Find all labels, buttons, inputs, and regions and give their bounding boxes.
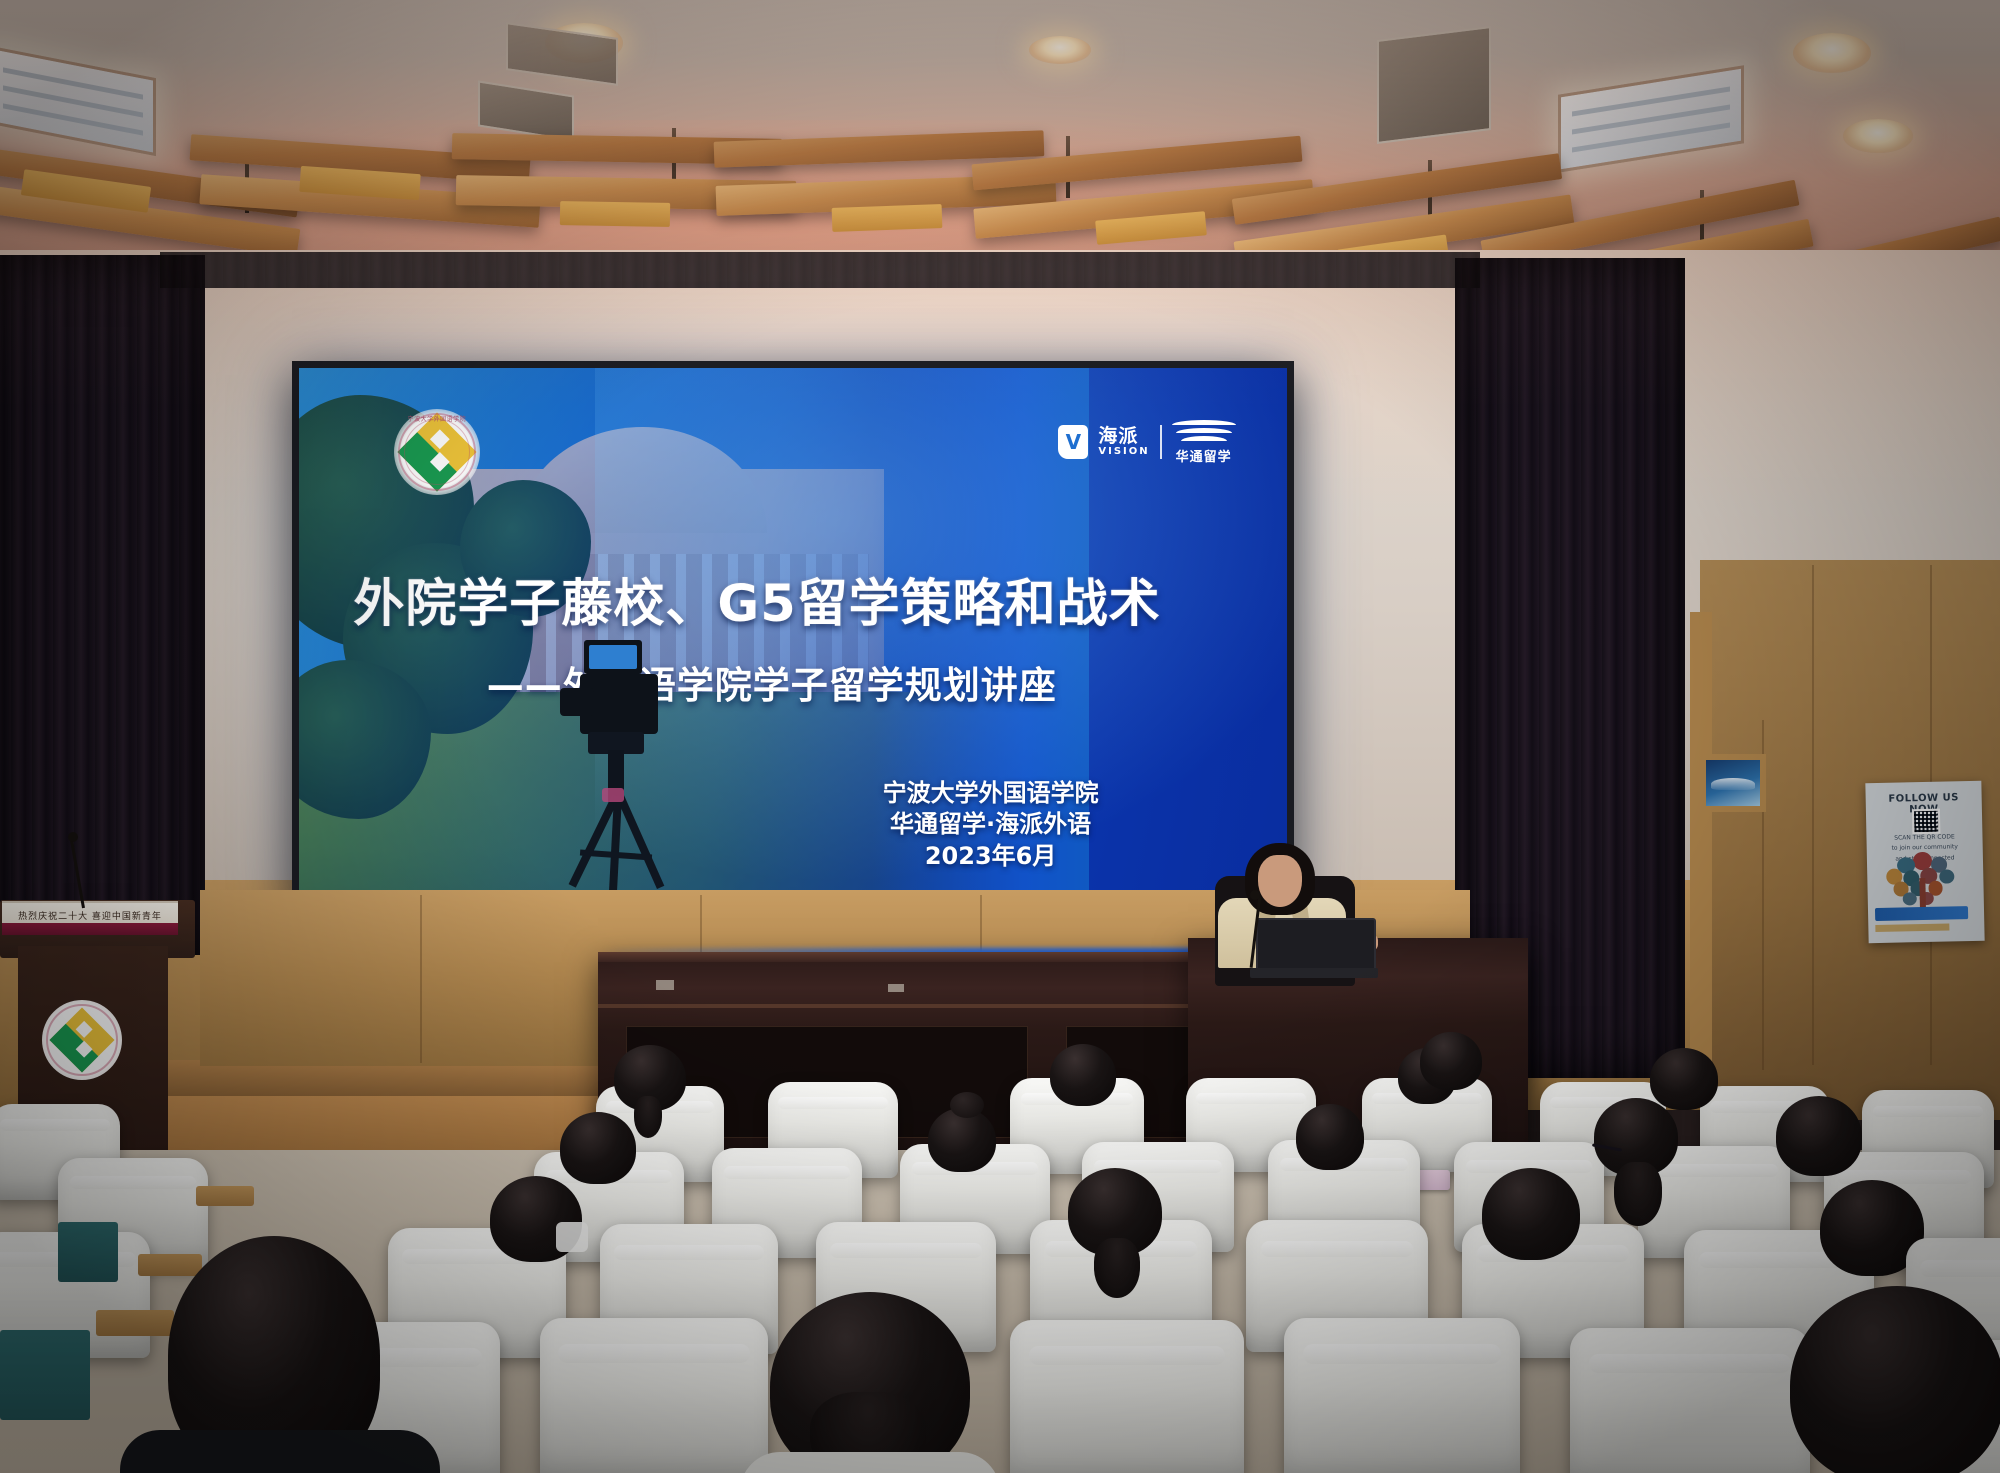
attendee-ponytail — [1614, 1162, 1662, 1226]
attendee-hair-bun — [950, 1092, 984, 1118]
attendee-face-mask — [556, 1222, 588, 1252]
video-camera-tripod — [546, 636, 706, 896]
recessed-downlight — [1793, 33, 1871, 73]
slide-title: 外院学子藤校、G5留学策略和战术 — [353, 562, 1242, 636]
poster-footer-line — [1875, 924, 1949, 932]
brand-divider — [1160, 425, 1162, 459]
huatong-wave-icon: 华通留学 — [1172, 420, 1236, 465]
attendee-head — [560, 1112, 636, 1184]
podium-university-emblem — [42, 1000, 122, 1080]
attendee-head — [1482, 1168, 1580, 1260]
seat-armrest-wood — [196, 1186, 254, 1206]
presentation-screen: 宁波大学外国语学院 V 海派 VISION 华通留学 外院学子藤校、G5留学策略… — [292, 361, 1294, 921]
attendee-head — [1776, 1096, 1862, 1176]
emblem-outer-ring — [46, 1004, 118, 1076]
seat-side-panel — [0, 1330, 90, 1420]
vision-cn-name: 海派 — [1098, 427, 1149, 447]
slide-university-logo: 宁波大学外国语学院 — [394, 409, 480, 495]
speaker-laptop-base — [1250, 968, 1378, 978]
attendee-head — [1050, 1044, 1116, 1106]
slide-footer-block: 宁波大学外国语学院 华通留学·海派外语 2023年6月 — [773, 778, 1208, 873]
wood-seam — [420, 895, 422, 1063]
follow-us-poster: FOLLOW US NOW SCAN THE QR CODE to join o… — [1865, 781, 1984, 943]
air-vent — [1377, 26, 1491, 144]
picture-image — [1706, 760, 1760, 806]
podium-banner-accent — [2, 923, 178, 935]
huatong-cn-name: 华通留学 — [1176, 446, 1232, 465]
framed-landscape-picture — [1700, 754, 1766, 812]
poster-footer-bar — [1875, 906, 1968, 921]
slide-canvas: 宁波大学外国语学院 V 海派 VISION 华通留学 外院学子藤校、G5留学策略… — [299, 368, 1287, 914]
slide-footer-line-1: 宁波大学外国语学院 — [773, 778, 1208, 810]
attendee-shoulders — [120, 1430, 440, 1473]
vision-brand-text: 海派 VISION — [1098, 427, 1149, 457]
lecture-hall-photo: FOLLOW US NOW SCAN THE QR CODE to join o… — [0, 0, 2000, 1473]
attendee-head — [1790, 1286, 2000, 1473]
podium-banner-text: 热烈庆祝二十大 喜迎中国新青年 — [18, 909, 162, 922]
seat-armrest-wood — [138, 1254, 202, 1276]
slide-brand-logos: V 海派 VISION 华通留学 — [1058, 420, 1235, 465]
seat-side-panel — [58, 1222, 118, 1282]
attendee-head — [1420, 1032, 1482, 1090]
camera-lens-icon — [560, 688, 594, 716]
qr-code-icon — [1912, 809, 1940, 834]
microphone-head-icon — [1250, 890, 1260, 900]
slide-footer-line-2: 华通留学·海派外语 — [773, 809, 1208, 841]
attendee-ponytail — [1094, 1238, 1140, 1298]
tripod-leg — [616, 794, 664, 889]
stage-curtain-left — [0, 255, 205, 955]
slide-footer-line-3: 2023年6月 — [773, 841, 1208, 873]
speaker-face — [1258, 855, 1302, 907]
emblem-ring-text: 宁波大学外国语学院 — [394, 414, 480, 423]
audience-seat — [1010, 1320, 1244, 1473]
audience-seat — [540, 1318, 768, 1473]
recessed-downlight — [1029, 36, 1091, 64]
camera-monitor-icon — [584, 640, 642, 674]
door-frame — [1690, 612, 1712, 1082]
vision-v-badge-icon: V — [1058, 425, 1088, 459]
microphone-head-icon — [68, 832, 78, 842]
audience-seat — [1570, 1328, 1810, 1473]
stage-curtain-upper — [160, 252, 1480, 288]
vision-en-name: VISION — [1098, 447, 1149, 458]
seat-armrest-wood — [96, 1310, 174, 1336]
emblem-inner-ring — [404, 419, 470, 485]
attendee-shoulders — [740, 1452, 1000, 1473]
attendee-head — [1296, 1104, 1364, 1170]
audience-seat — [1284, 1318, 1520, 1473]
recessed-downlight — [1843, 119, 1913, 153]
wood-seam — [1812, 565, 1814, 1065]
attendee-ponytail — [634, 1096, 662, 1138]
attendee-head — [1650, 1048, 1718, 1110]
